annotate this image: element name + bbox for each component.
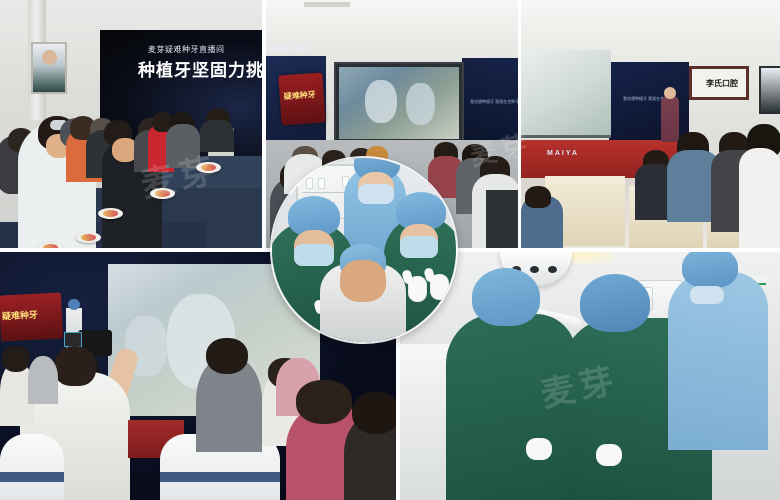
brand-logo-maiya: MAIYA — [547, 150, 579, 157]
panel-speaker-stage[interactable]: 我也想种植牙 我现在也种牙 李氏口腔 MAIYA — [521, 0, 780, 248]
panel-audience-banner[interactable]: 麦芽疑难种牙直播间 种植牙坚固力挑战 — [0, 0, 262, 248]
photo-collage: 麦芽疑难种牙直播间 种植牙坚固力挑战 — [0, 0, 780, 500]
snack-plate — [196, 162, 221, 173]
banner-line-2: 种植牙坚固力挑战 — [138, 56, 262, 81]
circular-inset[interactable] — [272, 158, 456, 342]
gloved-hand — [596, 444, 622, 466]
audience-figure — [206, 338, 248, 374]
supply-item — [318, 178, 325, 189]
surgical-mask — [294, 244, 334, 266]
panel-surgery[interactable] — [400, 252, 780, 500]
audience-figure — [486, 190, 518, 248]
projector-screen — [334, 62, 464, 144]
surgical-cap — [682, 252, 738, 288]
surgical-mask — [400, 236, 438, 258]
ceiling — [521, 0, 780, 56]
audience-figure — [28, 356, 58, 404]
audience-figure — [525, 186, 551, 208]
audience-figure — [2, 346, 30, 372]
surgical-cap — [580, 274, 650, 332]
wall-display-panel — [759, 66, 780, 114]
wall-portrait-frame — [31, 42, 67, 94]
audience-figure — [166, 124, 200, 168]
gloved-hand — [526, 438, 552, 460]
thumbs-up-gesture — [408, 276, 427, 302]
wall-headline: 植牙惊人耐力 — [268, 44, 310, 54]
patient-in-chair — [320, 264, 406, 342]
surgery-video-feed — [339, 67, 459, 139]
audience-figure — [296, 380, 352, 424]
surgeon-assistant — [446, 314, 576, 500]
panel-1-scene: 麦芽疑难种牙直播间 种植牙坚固力挑战 — [0, 0, 262, 248]
event-sign: 疑难种牙 — [278, 73, 325, 126]
snack-plate — [98, 208, 123, 219]
covered-chair — [0, 434, 64, 500]
audience-figure — [739, 148, 780, 248]
calligraphy-text: 李氏口腔 — [706, 78, 738, 89]
snack-plate — [76, 232, 101, 243]
panel-3-scene: 我也想种植牙 我现在也种牙 李氏口腔 MAIYA — [521, 0, 780, 248]
projector-screen — [521, 50, 611, 138]
audience-figure — [200, 120, 234, 152]
supply-item — [306, 178, 313, 189]
assisting-nurse — [668, 272, 768, 450]
panel-5-scene — [400, 252, 780, 500]
surgical-cap — [472, 268, 540, 326]
patient-face — [340, 260, 386, 302]
thumbs-up-gesture — [430, 274, 449, 300]
surgical-mask — [690, 286, 724, 304]
event-sign-text: 疑难种牙 — [283, 89, 316, 102]
event-sign-text: 疑难种牙 — [2, 308, 39, 323]
audience-figure — [352, 392, 396, 434]
speaker-doctor — [661, 96, 679, 142]
snack-plate — [38, 242, 63, 248]
surgical-mask — [358, 184, 394, 204]
event-sign: 疑难种牙 — [0, 292, 63, 341]
snack-plate — [150, 188, 175, 199]
framed-calligraphy: 李氏口腔 — [689, 66, 749, 100]
backdrop-side-text: 我也想种植牙 我现在也种牙 — [470, 98, 518, 105]
banner-line-1: 麦芽疑难种牙直播间 — [148, 44, 225, 55]
